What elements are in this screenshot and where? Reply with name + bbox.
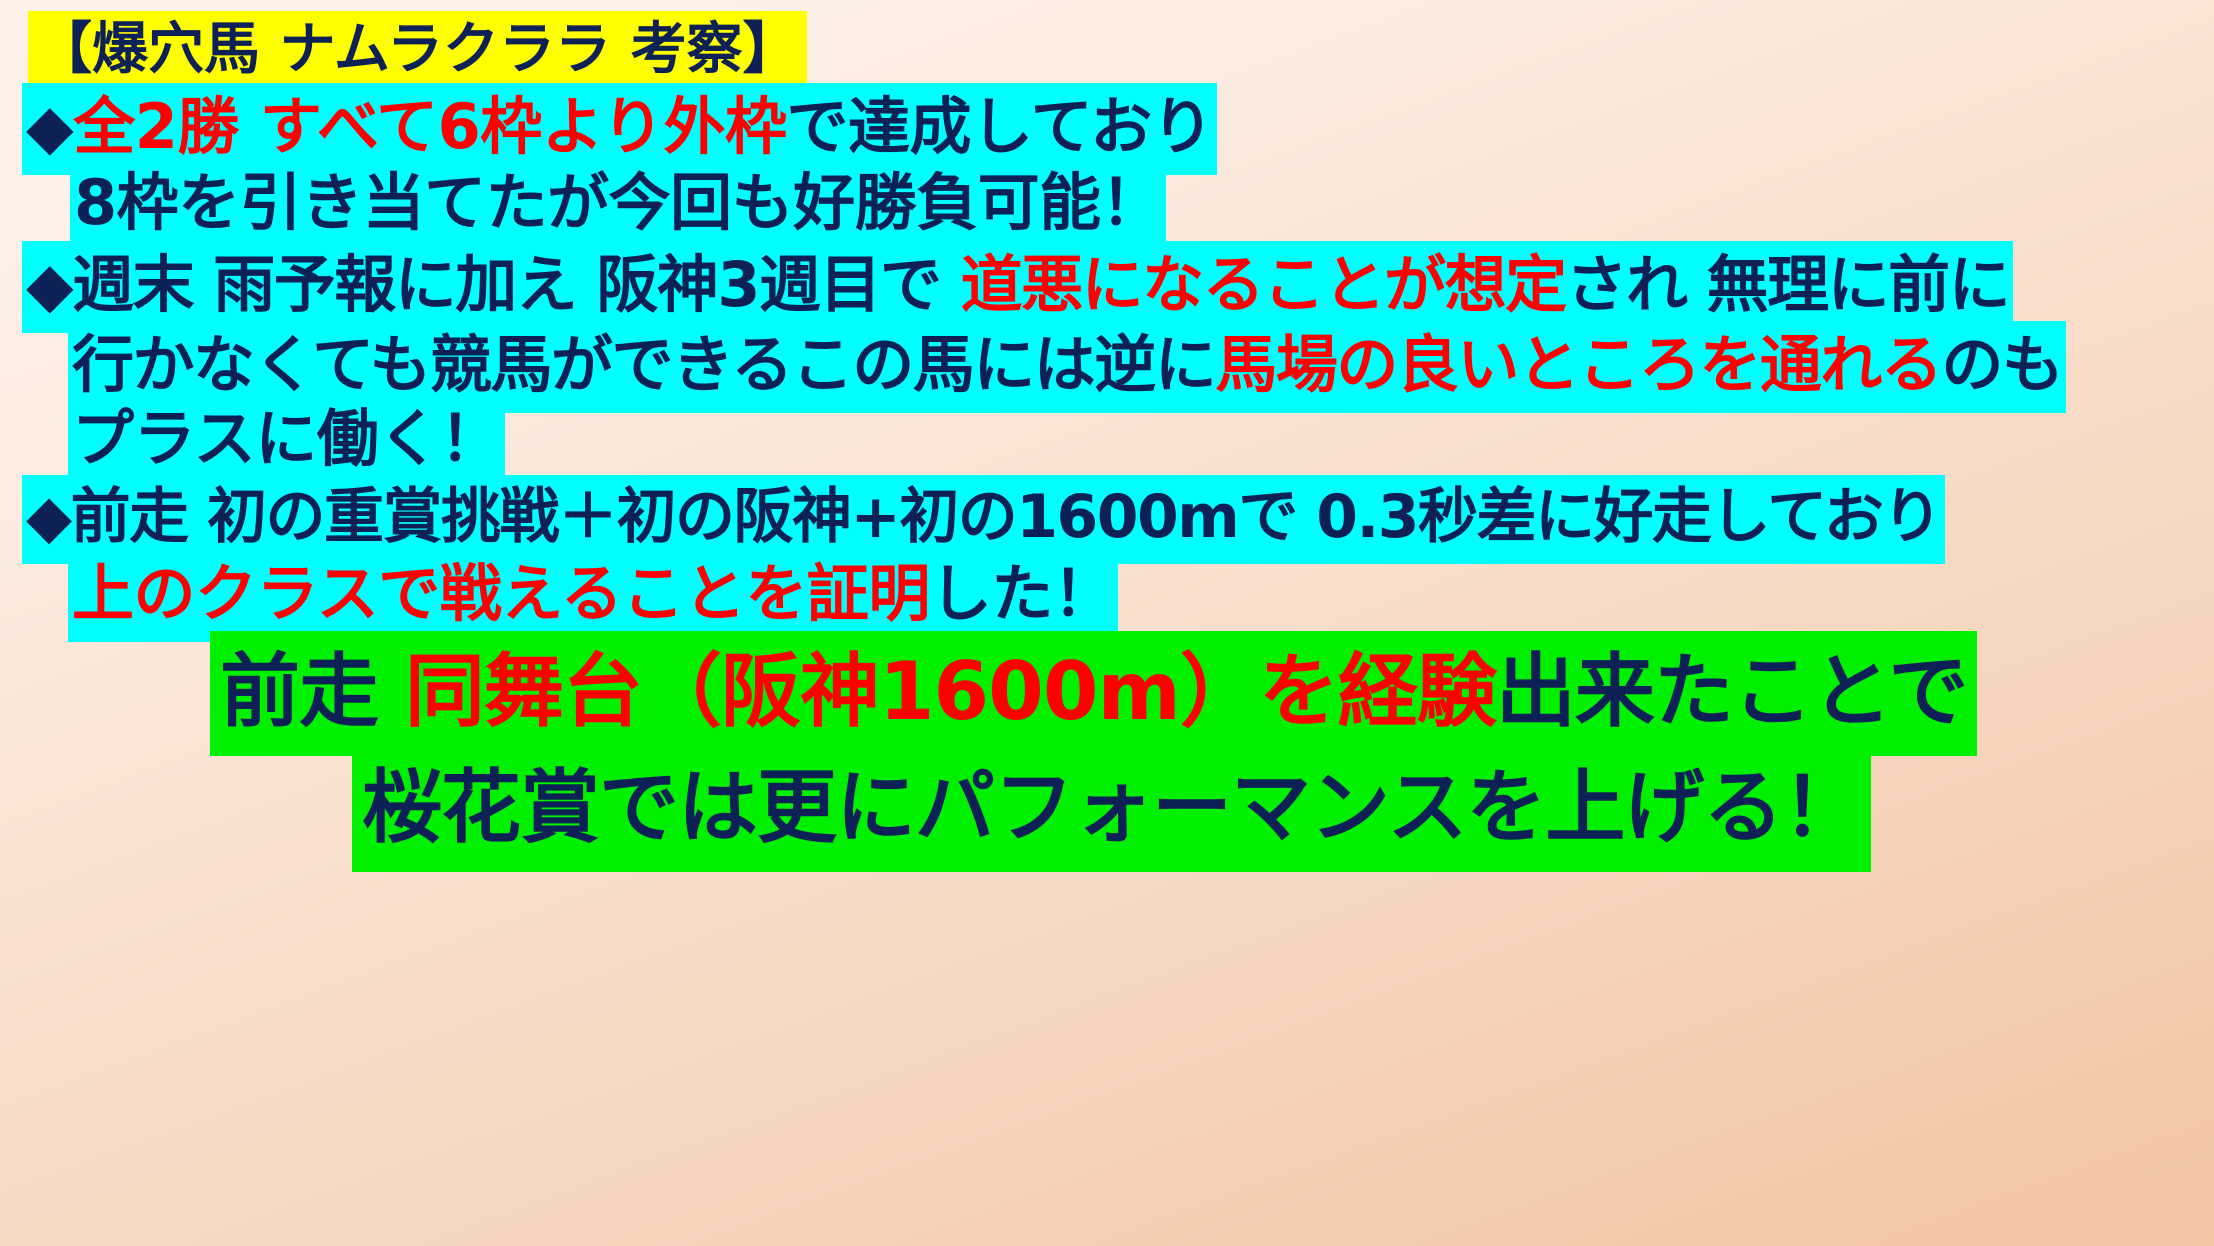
- conclusion-line-2: 桜花賞では更にパフォーマンスを上げる！: [352, 768, 1871, 848]
- slide-title: 【爆穴馬 ナムラクララ 考察】: [28, 22, 807, 78]
- bullet-2-line-3: プラスに働く！: [68, 408, 505, 470]
- bullet-3-line-1: ◆前走 初の重賞挑戦＋初の阪神+初の1600mで 0.3秒差に好走しており: [22, 487, 1945, 547]
- bullet-1-line-1: ◆全2勝 すべて6枠より外枠で達成しており: [22, 96, 1217, 158]
- conclusion-line-1: 前走 同舞台（阪神1600m）を経験出来たことで: [210, 652, 1977, 732]
- title-text: 【爆穴馬 ナムラクララ 考察】: [28, 11, 807, 92]
- bullet-2-line-1-seg-1: ◆週末 雨予報に加え 阪神3週目で: [26, 248, 961, 321]
- bullet-2-line-1: ◆週末 雨予報に加え 阪神3週目で 道悪になることが想定され 無理に前に: [22, 254, 2013, 316]
- bullet-2-line-2-seg-1: 行かなくても競馬ができるこの馬には逆に: [72, 328, 1215, 401]
- bullet-1-line-1-seg-3: で達成しており: [787, 90, 1214, 163]
- conclusion-line-1-seg-1: 前走: [220, 645, 405, 738]
- bullet-3-line-1-seg-1: ◆前走 初の重賞挑戦＋初の阪神+初の1600mで 0.3秒差に好走しており: [26, 482, 1941, 552]
- bullet-2-line-2-seg-2: 馬場の良いところを通れる: [1215, 328, 1941, 401]
- bullet-3-line-2-seg-2: した！: [930, 557, 1115, 630]
- bullet-2-line-2: 行かなくても競馬ができるこの馬には逆に馬場の良いところを通れるのも: [68, 334, 2066, 396]
- slide-canvas: 【爆穴馬 ナムラクララ 考察】 ◆全2勝 すべて6枠より外枠で達成しており 8枠…: [0, 0, 2214, 1246]
- conclusion-line-1-seg-2: 同舞台（阪神1600m）を経験: [405, 645, 1496, 738]
- conclusion-line-1-seg-3: 出来たことで: [1496, 645, 1968, 738]
- bullet-3-line-2: 上のクラスで戦えることを証明した！: [68, 563, 1118, 625]
- bullet-1-line-2-seg-1: 8枠を引き当てたが今回も好勝負可能！: [74, 166, 1162, 239]
- bullet-3-line-2-seg-1: 上のクラスで戦えることを証明: [72, 557, 930, 630]
- bullet-2-line-2-seg-3: のも: [1941, 328, 2062, 401]
- bullet-1-line-2: 8枠を引き当てたが今回も好勝負可能！: [70, 172, 1166, 234]
- bullet-diamond-icon: ◆: [26, 90, 73, 163]
- bullet-1-line-1-seg-2: 全2勝 すべて6枠より外枠: [73, 90, 786, 163]
- bullet-2-line-1-seg-2: 道悪になることが想定: [961, 248, 1566, 321]
- bullet-2-line-3-seg-1: プラスに働く！: [72, 402, 501, 475]
- bullet-2-line-1-seg-3: され 無理に前に: [1566, 248, 2010, 321]
- conclusion-line-2-seg-1: 桜花賞では更にパフォーマンスを上げる！: [362, 761, 1861, 854]
